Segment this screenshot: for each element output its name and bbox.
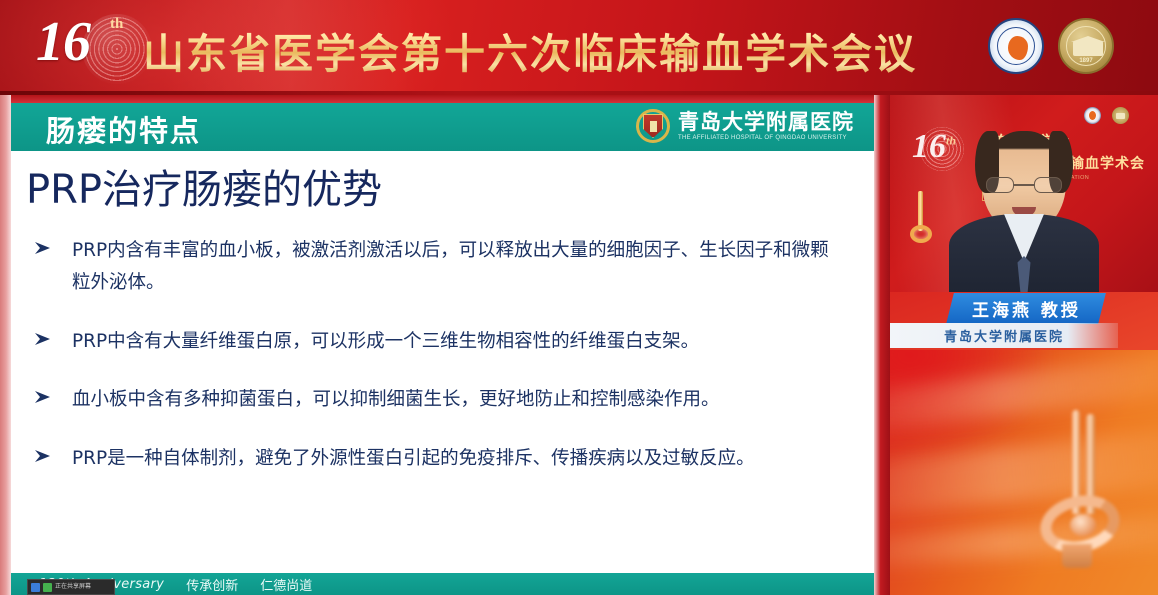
list-item: PRP中含有大量纤维蛋白原，可以形成一个三维生物相容性的纤维蛋白支架。 [26, 326, 836, 358]
slide-right-edge [874, 95, 890, 595]
shared-slide-area[interactable]: 肠瘘的特点 青岛大学附属医院 THE AFFILIATED HOSPITAL O… [0, 95, 890, 595]
video-tile[interactable]: 16th 山东省医学会 第十六次临床输血学术会议 SHANDONG MEDICA… [890, 95, 1158, 292]
arrow-bullet-icon [34, 449, 54, 465]
slide-bullet-list: PRP内含有丰富的血小板，被激活剂激活以后，可以释放出大量的细胞因子、生长因子和… [26, 235, 836, 501]
ribbon-sculpture-icon [1038, 410, 1124, 570]
shandong-medical-association-seal [988, 18, 1044, 74]
footer-slogan-2: 仁德尚道 [260, 575, 312, 594]
slide-title: PRP治疗肠瘘的优势 [26, 157, 382, 215]
video-seal-gold-icon [1112, 107, 1129, 124]
list-item: 血小板中含有多种抑菌蛋白，可以抑制细菌生长，更好地防止和控制感染作用。 [26, 384, 836, 416]
hospital-crest-icon [636, 109, 670, 143]
share-arrow-icon [43, 583, 52, 592]
hospital-logo: 青岛大学附属医院 THE AFFILIATED HOSPITAL OF QING… [636, 109, 854, 143]
conference-header-banner: 16 th 山东省医学会第十六次临床输血学术会议 山东省医学会第十六次临床输血学… [0, 0, 1158, 95]
seal-year: 1897 [1060, 58, 1112, 64]
video-seal-blue-icon [1084, 107, 1101, 124]
list-item: PRP是一种自体制剂，避免了外源性蛋白引起的免疫排斥、传播疾病以及过敏反应。 [26, 443, 836, 475]
slide-section-label: 肠瘘的特点 [46, 108, 201, 150]
arrow-bullet-icon [34, 332, 54, 348]
speaker-affiliation: 青岛大学附属医院 [944, 326, 1064, 345]
edition-number: 16 [36, 10, 90, 74]
decorative-backdrop-lower [890, 350, 1158, 595]
speaker-video-figure [949, 127, 1099, 292]
speaker-affiliation-bar: 青岛大学附属医院 [890, 323, 1118, 348]
screen-share-indicator[interactable]: 正在共享屏幕 [27, 579, 115, 595]
conference-title: 山东省医学会第十六次临床输血学术会议 [143, 20, 917, 80]
hospital-name-cn: 青岛大学附属医院 [678, 111, 854, 132]
hospital-name-en: THE AFFILIATED HOSPITAL OF QINGDAO UNIVE… [678, 135, 854, 141]
edition-suffix: th [110, 16, 123, 33]
bullet-text: PRP中含有大量纤维蛋白原，可以形成一个三维生物相容性的纤维蛋白支架。 [72, 331, 699, 352]
shandong-province-shape-icon [1008, 36, 1028, 60]
list-item: PRP内含有丰富的血小板，被激活剂激活以后，可以释放出大量的细胞因子、生长因子和… [26, 235, 836, 300]
speaker-glasses [986, 177, 1062, 194]
monitor-icon [31, 583, 40, 592]
speaker-name: 王海燕 教授 [972, 296, 1081, 321]
slide-top-edge [0, 95, 890, 103]
bullet-text: PRP是一种自体制剂，避免了外源性蛋白引起的免疫排斥、传播疾病以及过敏反应。 [72, 448, 755, 469]
app-root: 16 th 山东省医学会第十六次临床输血学术会议 山东省医学会第十六次临床输血学… [0, 0, 1158, 595]
slide-footer-bar: 120th Anniversary 传承创新 仁德尚道 [11, 573, 874, 595]
speaker-video-panel[interactable]: 16th 山东省医学会 第十六次临床输血学术会议 SHANDONG MEDICA… [890, 95, 1158, 595]
arrow-bullet-icon [34, 390, 54, 406]
trophy-sculpture-icon [908, 191, 934, 253]
arrow-bullet-icon [34, 241, 54, 257]
slide-left-edge [0, 95, 11, 595]
university-gold-seal: 1897 [1058, 18, 1114, 74]
bullet-text: 血小板中含有多种抑菌蛋白，可以抑制细菌生长，更好地防止和控制感染作用。 [72, 389, 720, 410]
speaker-name-banner: 王海燕 教授 [946, 293, 1106, 324]
building-icon [1073, 41, 1103, 56]
slide-section-header: 肠瘘的特点 青岛大学附属医院 THE AFFILIATED HOSPITAL O… [11, 103, 874, 151]
footer-slogan-1: 传承创新 [186, 575, 238, 594]
share-status-text: 正在共享屏幕 [55, 584, 91, 590]
bullet-text: PRP内含有丰富的血小板，被激活剂激活以后，可以释放出大量的细胞因子、生长因子和… [72, 240, 829, 293]
